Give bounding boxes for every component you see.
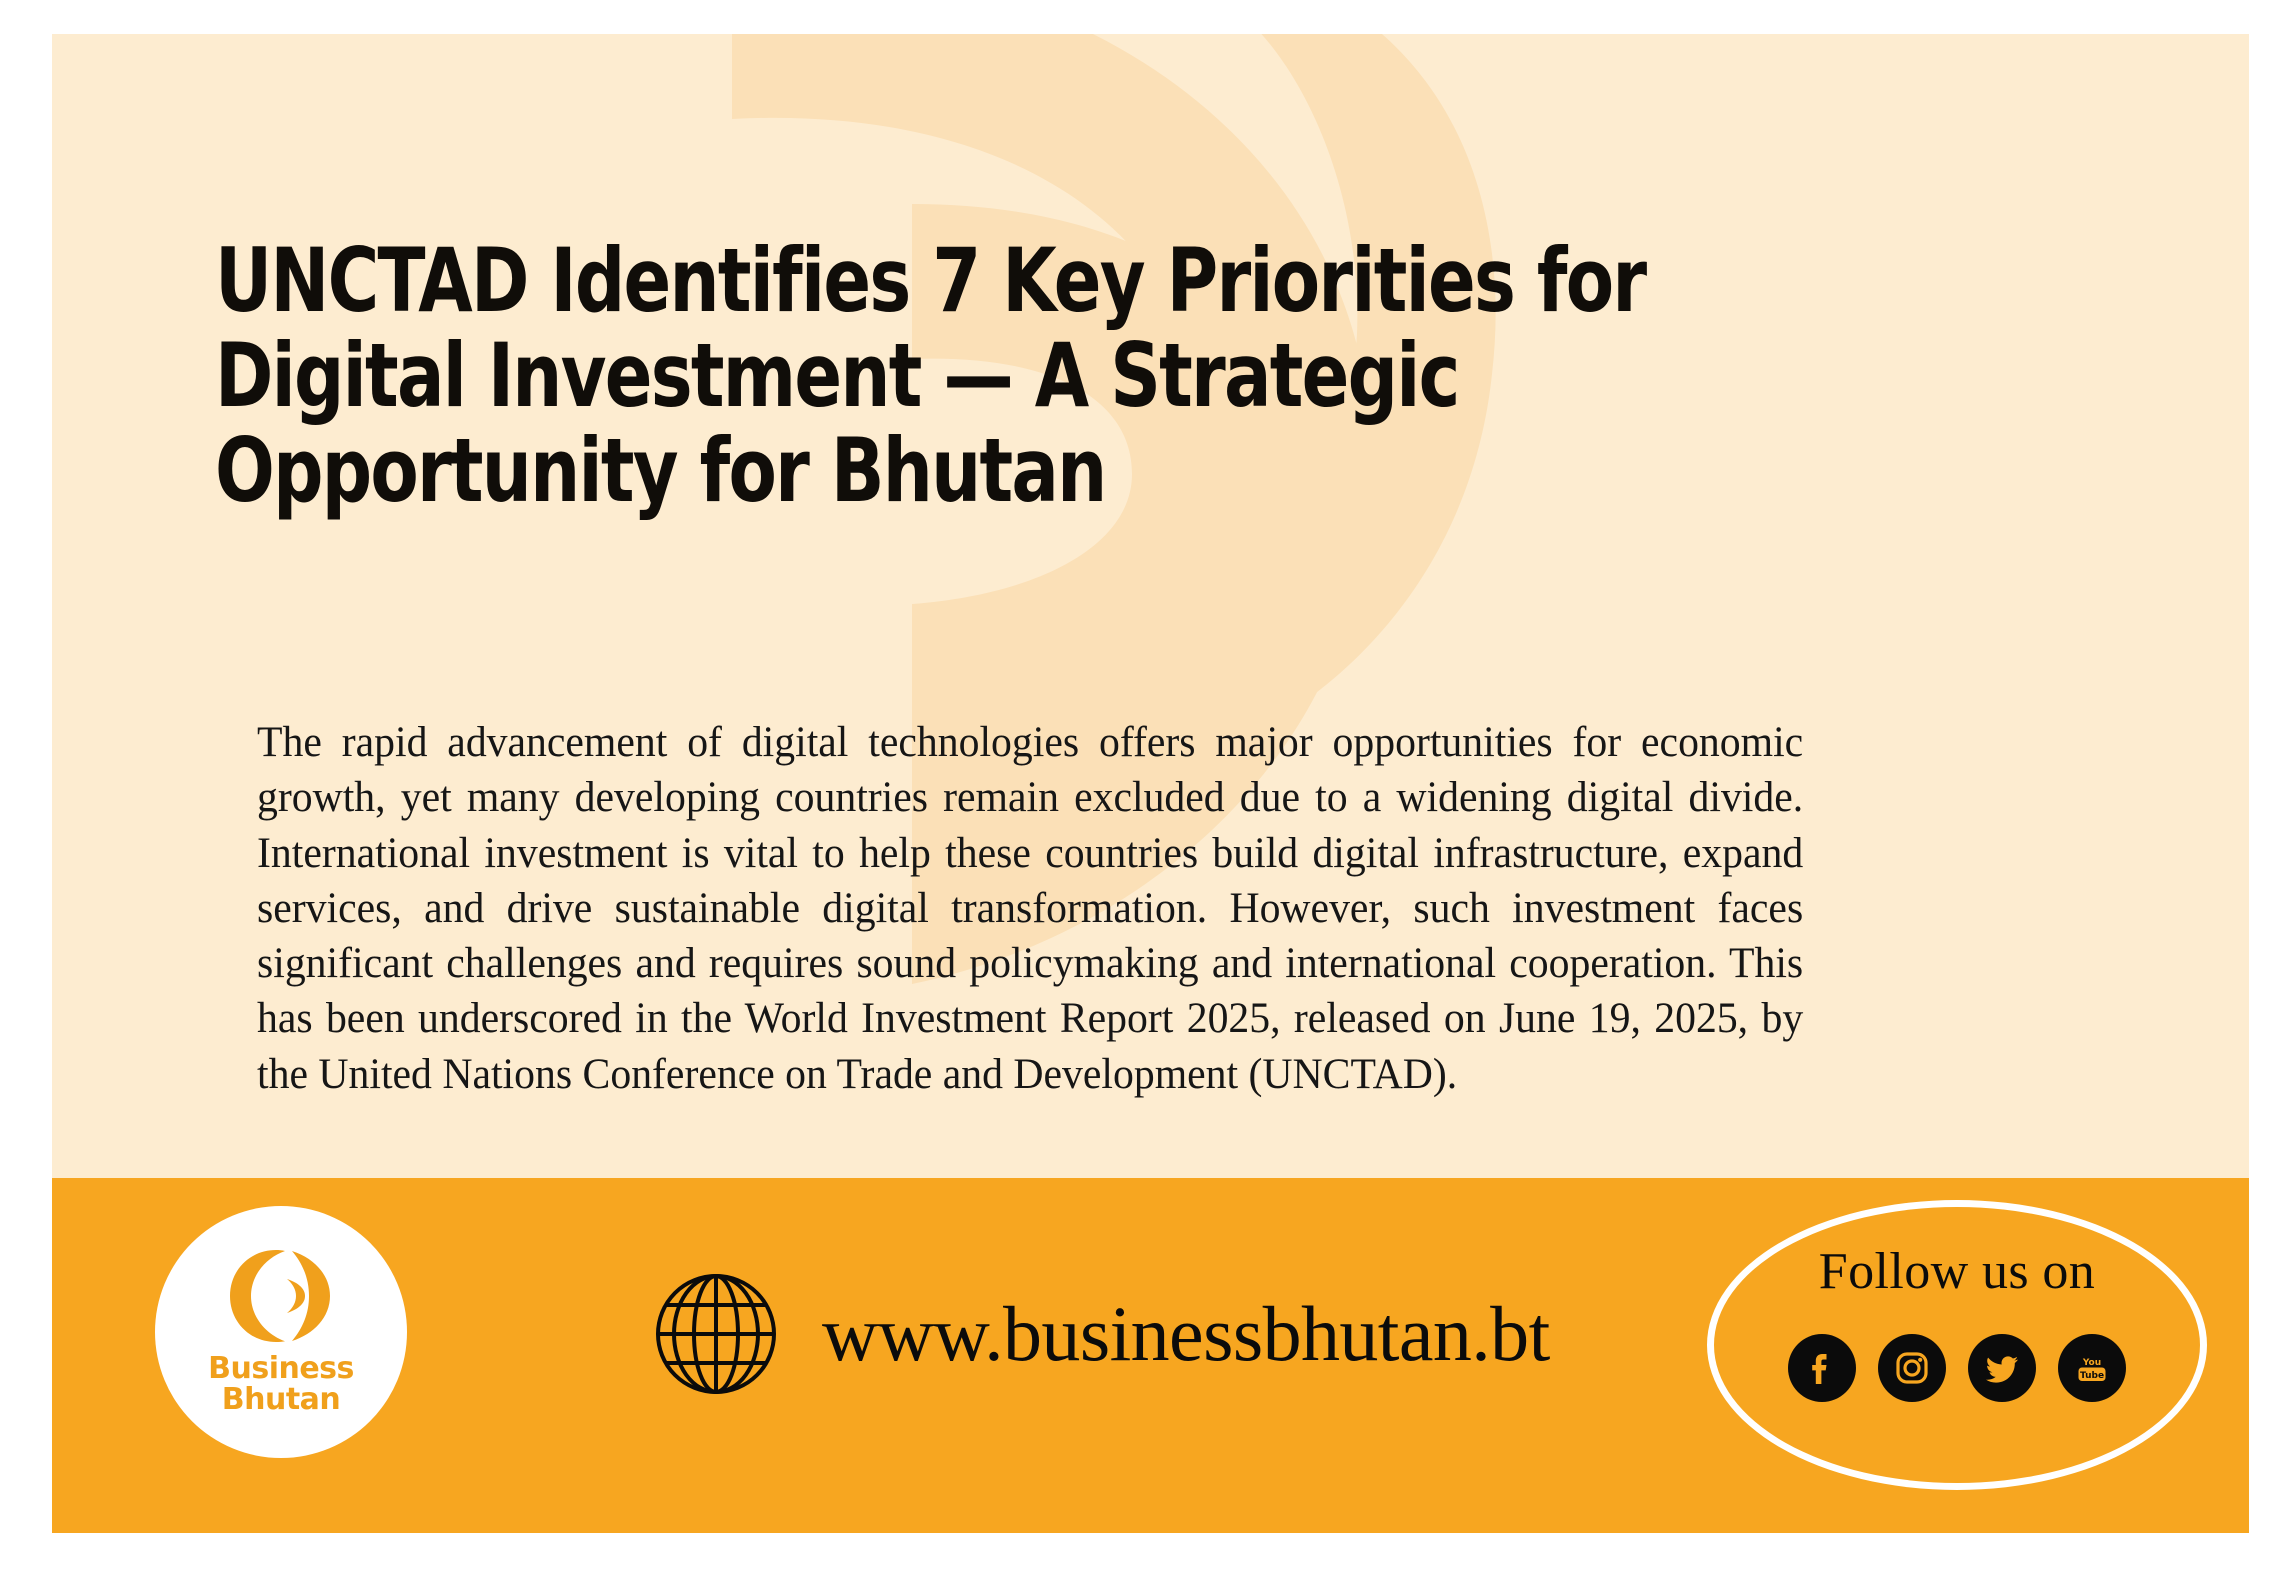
page-title: UNCTAD Identifies 7 Key Priorities for D… — [215, 233, 1663, 518]
footer-bar: Business Bhutan www.businessbhuta — [52, 1178, 2249, 1533]
instagram-icon[interactable] — [1878, 1334, 1946, 1402]
poster-card: UNCTAD Identifies 7 Key Priorities for D… — [52, 34, 2249, 1533]
svg-text:Tube: Tube — [2080, 1371, 2104, 1381]
globe-icon — [652, 1270, 780, 1398]
social-links-row: You Tube — [1707, 1334, 2207, 1402]
youtube-icon[interactable]: You Tube — [2058, 1334, 2126, 1402]
business-bhutan-b-mark-icon — [229, 1249, 333, 1343]
website-link[interactable]: www.businessbhutan.bt — [652, 1270, 1550, 1398]
svg-text:You: You — [2082, 1358, 2101, 1368]
brand-logo-wordmark: Business Bhutan — [208, 1353, 354, 1415]
website-url-text: www.businessbhutan.bt — [822, 1289, 1550, 1379]
twitter-icon[interactable] — [1968, 1334, 2036, 1402]
follow-us-block: Follow us on — [1707, 1200, 2207, 1490]
brand-logo[interactable]: Business Bhutan — [155, 1206, 407, 1458]
facebook-icon[interactable] — [1788, 1334, 1856, 1402]
article-body-text: The rapid advancement of digital technol… — [257, 715, 1803, 1102]
follow-us-label: Follow us on — [1707, 1242, 2207, 1301]
